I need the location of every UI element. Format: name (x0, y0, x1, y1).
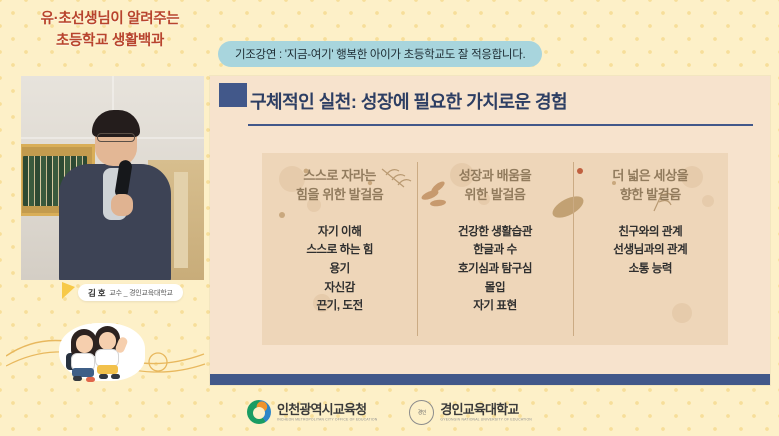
screen: 유·초선생님이 알려주는 초등학교 생활백과 김 호 교수 _ 경인교육대학교 (0, 0, 779, 436)
incheon-logo-name-en: INCHEON METROPOLITAN CITY OFFICE OF EDUC… (277, 418, 377, 422)
list-item: 몰입 (421, 279, 568, 298)
list-item: 자기 이해 (266, 223, 413, 242)
gyeongin-logo-text: 경인교육대학교 GYEONGIN NATIONAL UNIVERSITY OF … (440, 403, 532, 422)
list-item: 소통 능력 (577, 260, 724, 279)
speaker-affiliation: 교수 _ 경인교육대학교 (109, 288, 172, 298)
list-item: 건강한 생활습관 (421, 223, 568, 242)
glasses-icon (97, 133, 135, 142)
incheon-emblem-icon (247, 400, 271, 424)
list-item: 친구와의 관계 (577, 223, 724, 242)
value-column-2: 성장과 배움을 위한 발걸음 건강한 생활습관 한글과 수 호기심과 탐구심 몰… (417, 153, 572, 345)
list-item: 선생님과의 관계 (577, 241, 724, 260)
gyeongin-seal-icon: 경인 (409, 400, 434, 425)
value-column-2-items: 건강한 생활습관 한글과 수 호기심과 탐구심 몰입 자기 표현 (421, 223, 568, 316)
boy-face (99, 332, 116, 350)
value-column-3-items: 친구와의 관계 선생님과의 관계 소통 능력 (577, 223, 724, 279)
keynote-banner-text: 기조강연 : '지금-여기' 행복한 아이가 초등학교도 잘 적응합니다. (235, 46, 525, 62)
wood-panel-strip (174, 172, 188, 268)
value-column-1-heading-line-2: 힘을 위한 발걸음 (266, 186, 413, 205)
program-title: 유·초선생님이 알려주는 초등학교 생활백과 (10, 8, 210, 53)
list-item: 호기심과 탐구심 (421, 260, 568, 279)
slide-title: 구체적인 실천: 성장에 필요한 가치로운 경험 (250, 88, 567, 114)
program-title-line-2: 초등학교 생활백과 (10, 30, 210, 52)
gyeongin-logo-name-ko: 경인교육대학교 (440, 403, 532, 418)
keynote-banner: 기조강연 : '지금-여기' 행복한 아이가 초등학교도 잘 적응합니다. (218, 41, 542, 67)
slide-footer-bar (210, 374, 770, 385)
slide-accent-square (219, 83, 247, 107)
list-item: 스스로 하는 힘 (266, 241, 413, 260)
value-column-3-heading: 더 넓은 세상을 향한 발걸음 (577, 167, 724, 205)
shoe (86, 377, 95, 382)
caption-pointer (62, 282, 75, 299)
value-column-2-heading: 성장과 배움을 위한 발걸음 (421, 167, 568, 205)
value-column-1-items: 자기 이해 스스로 하는 힘 용기 자신감 끈기, 도전 (266, 223, 413, 316)
list-item: 용기 (266, 260, 413, 279)
kids-illustration (55, 315, 147, 383)
boy-shorts (97, 365, 118, 374)
footer-logos: 인천광역시교육청 INCHEON METROPOLITAN CITY OFFIC… (0, 392, 779, 432)
value-column-1-heading-line-1: 스스로 자라는 (266, 167, 413, 186)
shoe (99, 374, 108, 379)
program-title-line-1: 유·초선생님이 알려주는 (10, 8, 210, 30)
list-item: 끈기, 도전 (266, 297, 413, 316)
incheon-logo-text: 인천광역시교육청 INCHEON METROPOLITAN CITY OFFIC… (277, 403, 377, 422)
speaker-caption: 김 호 교수 _ 경인교육대학교 (78, 284, 183, 301)
gyeongin-logo-name-en: GYEONGIN NATIONAL UNIVERSITY OF EDUCATIO… (440, 418, 532, 422)
value-column-3-heading-line-1: 더 넓은 세상을 (577, 167, 724, 186)
shoe (73, 376, 82, 381)
value-column-1-heading: 스스로 자라는 힘을 위한 발걸음 (266, 167, 413, 205)
value-column-1: 스스로 자라는 힘을 위한 발걸음 자기 이해 스스로 하는 힘 용기 자신감 … (262, 153, 417, 345)
speaker-video[interactable] (21, 76, 204, 280)
presentation-slide: 구체적인 실천: 성장에 필요한 가치로운 경험 (210, 76, 770, 385)
girl-face (76, 335, 93, 353)
speaker-hand (111, 194, 133, 216)
list-item: 한글과 수 (421, 241, 568, 260)
speaker-name: 김 호 (88, 287, 105, 299)
list-item: 자기 표현 (421, 297, 568, 316)
incheon-logo-name-ko: 인천광역시교육청 (277, 403, 377, 418)
slide-title-underline (248, 124, 753, 126)
values-card: 스스로 자라는 힘을 위한 발걸음 자기 이해 스스로 하는 힘 용기 자신감 … (262, 153, 728, 345)
list-item: 자신감 (266, 279, 413, 298)
shoe (111, 374, 120, 379)
value-column-2-heading-line-2: 위한 발걸음 (421, 186, 568, 205)
gyeongin-university-logo: 경인 경인교육대학교 GYEONGIN NATIONAL UNIVERSITY … (409, 400, 532, 425)
value-column-2-heading-line-1: 성장과 배움을 (421, 167, 568, 186)
value-column-3: 더 넓은 세상을 향한 발걸음 친구와의 관계 선생님과의 관계 소통 능력 (573, 153, 728, 345)
value-column-3-heading-line-2: 향한 발걸음 (577, 186, 724, 205)
incheon-education-office-logo: 인천광역시교육청 INCHEON METROPOLITAN CITY OFFIC… (247, 400, 377, 424)
